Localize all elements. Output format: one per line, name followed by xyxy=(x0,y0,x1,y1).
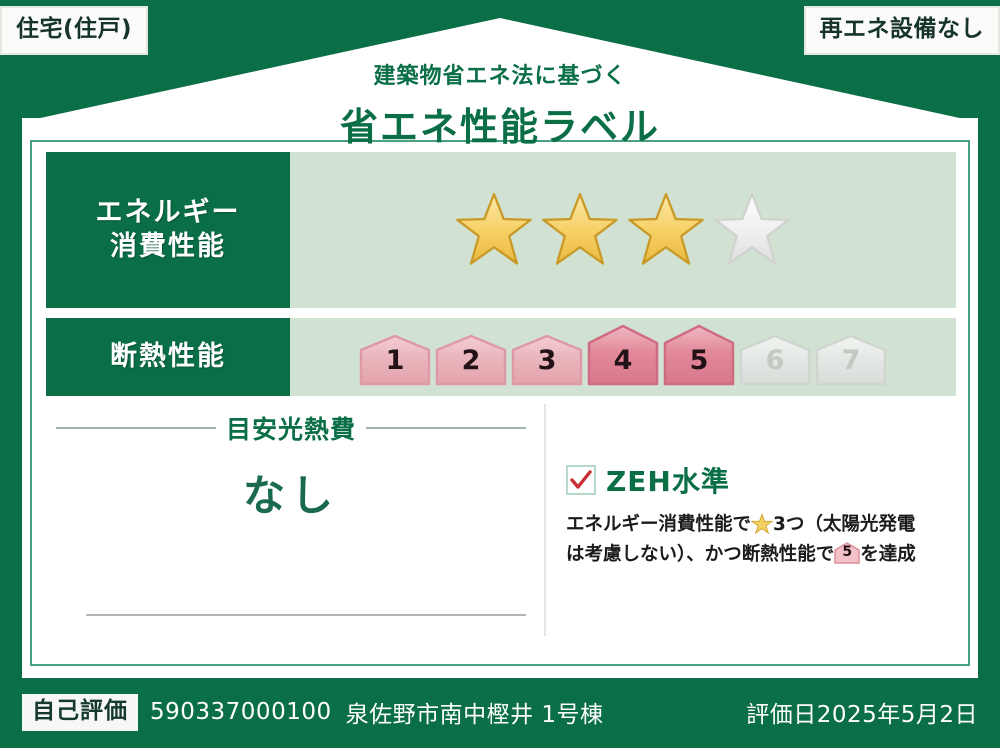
inline-star-icon xyxy=(751,513,773,535)
evaluation-date: 評価日2025年5月2日 xyxy=(746,695,978,729)
energy-key-line1: エネルギー xyxy=(96,196,241,230)
insulation-key-text: 断熱性能 xyxy=(110,340,226,374)
building-type-tag: 住宅(住戸) xyxy=(0,6,148,55)
label-title-block: 建築物省エネ法に基づく 省エネ性能ラベル xyxy=(0,58,1000,151)
insulation-grade-number: 2 xyxy=(435,345,507,376)
estimated-utility-cost-heading: 目安光熱費 xyxy=(56,410,526,446)
insulation-grade-scale: 1234567 xyxy=(359,324,887,390)
heading-rule-left xyxy=(56,427,216,429)
label-footer: 自己評価 590337000100 泉佐野市南中樫井 1号棟 評価日2025年5… xyxy=(0,684,1000,740)
cost-bottom-divider xyxy=(86,614,526,616)
estimated-utility-cost-value: なし xyxy=(56,462,526,523)
star-filled-icon xyxy=(455,191,533,269)
inline-grade-number: 5 xyxy=(834,541,860,564)
insulation-grade-3: 3 xyxy=(511,334,583,386)
evaluation-type-badge: 自己評価 xyxy=(22,694,138,731)
energy-performance-row: エネルギー 消費性能 xyxy=(46,152,956,308)
star-filled-icon xyxy=(541,191,619,269)
insulation-grade-number: 3 xyxy=(511,345,583,376)
zeh-checkbox[interactable] xyxy=(566,465,596,495)
check-icon xyxy=(569,468,593,492)
zeh-heading-row: ZEH水準 xyxy=(566,460,958,500)
star-rating xyxy=(455,191,791,269)
column-divider xyxy=(544,404,546,636)
insulation-grade-number: 6 xyxy=(739,345,811,376)
insulation-grade-number: 5 xyxy=(663,345,735,376)
page-title: 省エネ性能ラベル xyxy=(0,96,1000,151)
renewable-energy-tag: 再エネ設備なし xyxy=(804,6,1000,55)
insulation-performance-value: 1234567 xyxy=(290,318,956,396)
label-card: エネルギー 消費性能 断熱性能 1234567 目安光熱費 なし xyxy=(30,140,970,666)
insulation-grade-number: 7 xyxy=(815,345,887,376)
zeh-desc-part3: を達成 xyxy=(860,544,916,565)
zeh-desc-part1: エネルギー消費性能で xyxy=(566,514,751,535)
zeh-standard-block: ZEH水準 エネルギー消費性能で 3つ（太陽光発電 は考慮しない）、かつ断熱性能… xyxy=(566,460,958,570)
zeh-description: エネルギー消費性能で 3つ（太陽光発電 は考慮しない）、かつ断熱性能で 5を達成 xyxy=(566,510,958,570)
insulation-grade-4: 4 xyxy=(587,324,659,386)
insulation-grade-6: 6 xyxy=(739,334,811,386)
energy-performance-label-key: エネルギー 消費性能 xyxy=(46,152,290,308)
zeh-title: ZEH水準 xyxy=(606,460,730,500)
energy-performance-label: 住宅(住戸) 再エネ設備なし 建築物省エネ法に基づく 省エネ性能ラベル エネルギ… xyxy=(0,0,1000,748)
star-filled-icon xyxy=(627,191,705,269)
insulation-performance-label-key: 断熱性能 xyxy=(46,318,290,396)
zeh-desc-part2: は考慮しない）、かつ断熱性能で xyxy=(566,544,834,565)
label-id: 590337000100 xyxy=(150,699,332,725)
insulation-grade-5: 5 xyxy=(663,324,735,386)
zeh-desc-stars: 3つ（太陽光発電 xyxy=(773,514,915,535)
star-empty-icon xyxy=(713,191,791,269)
label-subtitle: 建築物省エネ法に基づく xyxy=(0,58,1000,90)
property-address: 泉佐野市南中樫井 1号棟 xyxy=(346,695,604,729)
insulation-grade-7: 7 xyxy=(815,334,887,386)
energy-performance-value xyxy=(290,152,956,308)
estimated-utility-cost-title: 目安光熱費 xyxy=(226,410,356,446)
insulation-grade-2: 2 xyxy=(435,334,507,386)
inline-grade-badge: 5 xyxy=(834,542,860,564)
insulation-grade-number: 1 xyxy=(359,345,431,376)
energy-key-line2: 消費性能 xyxy=(110,230,226,264)
insulation-grade-number: 4 xyxy=(587,345,659,376)
insulation-grade-1: 1 xyxy=(359,334,431,386)
insulation-performance-row: 断熱性能 1234567 xyxy=(46,318,956,396)
heading-rule-right xyxy=(366,427,526,429)
